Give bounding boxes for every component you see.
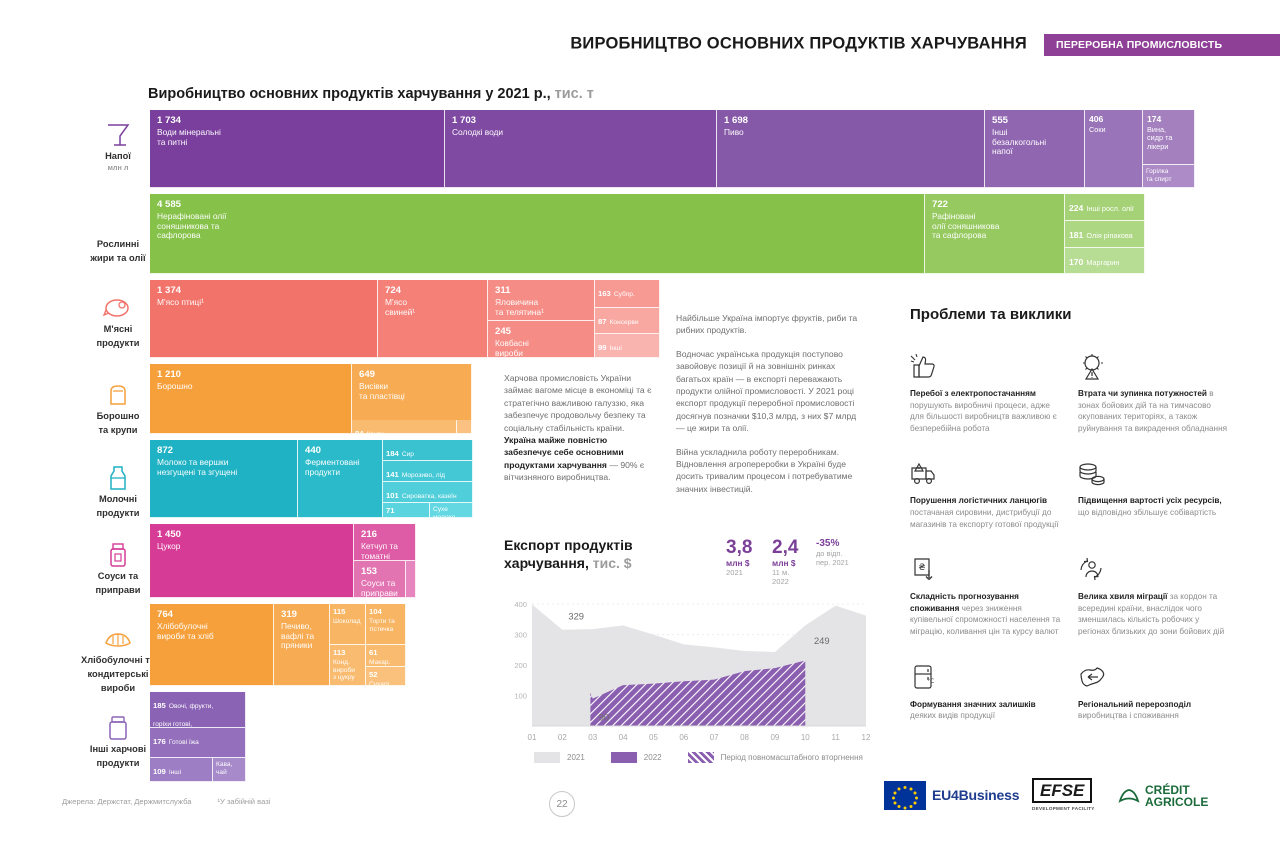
problem-text: Підвищення вартості усіх ресурсів, що ві…: [1078, 495, 1230, 518]
treemap-cell-value: 115: [333, 607, 363, 616]
treemap-cell-value: 181: [1069, 230, 1083, 240]
category-label-2: продукти: [97, 758, 140, 769]
eu4business-logo: EU4Business: [884, 781, 994, 816]
treemap-cell-oils-1[interactable]: 4 585Нерафіновані оліїсоняшникова тасафл…: [150, 194, 925, 274]
page-number: 22: [549, 791, 575, 817]
croissant-icon: [103, 626, 133, 652]
kpi-change: -35% до відп. пер. 2021: [816, 538, 849, 567]
efse-logo: EFSE DEVELOPMENT FACILITY: [1032, 778, 1095, 811]
category-6: Соуси таприправи: [88, 542, 148, 596]
treemap-cell-sauces-3[interactable]: 153Соуси таприправи: [354, 561, 406, 598]
treemap-cell-oils-5[interactable]: 170Маргарин: [1065, 248, 1145, 274]
treemap-title-main: Виробництво основних продуктів харчуванн…: [148, 86, 555, 102]
treemap-cell-name: Борошно: [157, 382, 345, 392]
treemap-cell-name: Вина,сидр талікери: [1147, 126, 1191, 151]
x-tick-06: 06: [679, 733, 688, 742]
problem-text-rest: виробництва і споживання: [1078, 711, 1179, 720]
fridge-icon: °C: [910, 664, 1062, 692]
x-tick-04: 04: [619, 733, 628, 742]
x-tick-03: 03: [588, 733, 597, 742]
treemap-cell-flour-1[interactable]: 1 210Борошно: [150, 364, 352, 434]
treemap-cell-drinks-5[interactable]: 406Соки: [1085, 110, 1143, 188]
svg-text:₴: ₴: [919, 563, 926, 573]
treemap-cell-name: Цукор: [157, 542, 347, 552]
treemap-cell-dairy-3[interactable]: 184Сир: [383, 440, 473, 461]
treemap-cell-name: Ферментованіпродукти: [305, 458, 376, 477]
treemap-cell-value: 113: [333, 648, 363, 657]
category-label-2: кондитерські: [88, 669, 149, 680]
treemap-cell-value: 319: [281, 609, 323, 620]
category-label: Соуси та: [98, 571, 138, 582]
treemap-cell-value: 170: [1069, 257, 1083, 267]
x-tick-08: 08: [740, 733, 749, 742]
export-chart-title-units: тис. $: [593, 555, 632, 571]
problem-text-bold: Підвищення вартості усіх ресурсів,: [1078, 496, 1222, 505]
treemap-cell-dairy-1[interactable]: 872Молоко та вершкинезгущені та згущені: [150, 440, 298, 518]
treemap-cell-value: 224: [1069, 203, 1083, 213]
export-chart-title: Експорт продуктів харчування, тис. $: [504, 536, 674, 572]
treemap-cell-name: Сир: [402, 451, 414, 458]
import-export-p1: Найбільше Україна імпортує фруктів, риби…: [676, 312, 862, 337]
person-migration-icon: [1078, 556, 1230, 584]
treemap-cell-name: Морозиво, лід: [402, 472, 445, 479]
treemap-cell-meat-4[interactable]: 245Ковбаснівироби: [488, 321, 595, 358]
treemap-cell-dairy-7[interactable]: Сухемолоко: [430, 503, 473, 518]
treemap-cell-name: Солодкі води: [452, 128, 710, 138]
treemap-cell-name: Соки: [1089, 126, 1139, 134]
x-tick-01: 01: [528, 733, 537, 742]
legend-swatch: [534, 752, 560, 763]
treemap-cell-name: Хлібобулочнівироби та хліб: [157, 622, 267, 641]
treemap-cell-meat-2[interactable]: 724М'ясосвиней¹: [378, 280, 488, 358]
problem-text: Втрата чи зупинка потужностей в зонах бо…: [1078, 388, 1230, 434]
treemap-cell-flour-3[interactable]: 84Крупи: [352, 420, 457, 434]
treemap-cell-name: Рафінованіолії соняшниковата сафлорова: [932, 212, 1058, 241]
category-label: Рослинні: [97, 239, 139, 250]
treemap-cell-value: 141: [386, 470, 399, 479]
category-7: Хлібобулочні такондитерськівироби: [88, 626, 148, 694]
treemap-cell-name: Молоко та вершкинезгущені та згущені: [157, 458, 291, 477]
category-label-3: вироби: [101, 683, 135, 694]
problem-text-bold: Формування значних залишків: [910, 700, 1036, 709]
treemap-cell-value: 872: [157, 445, 291, 456]
category-label-2: продукти: [97, 338, 140, 349]
milk-bottle-icon: [103, 465, 133, 491]
problem-text: Порушення логістичних ланцюгів постачана…: [910, 495, 1062, 530]
treemap-cell-value: 1 734: [157, 115, 438, 126]
treemap-cell-other-food-2[interactable]: 176Готові їжата страви: [150, 728, 246, 758]
treemap-cell-name: Інші: [610, 345, 622, 352]
industry-text-a: Харчова промисловість України займає ваг…: [504, 373, 651, 433]
export-chart: Експорт продуктів харчування, тис. $ 3,8…: [504, 536, 874, 766]
treemap-cell-name: Кава,чай: [216, 761, 243, 776]
legend-label: Період повномасштабного вторгнення: [721, 753, 863, 762]
category-label-2: приправи: [96, 585, 141, 596]
treemap-cell-value: 52: [369, 670, 403, 679]
y-tick-100: 100: [514, 692, 527, 701]
treemap-cell-value: 311: [495, 285, 588, 296]
problem-text-rest: постачаная сировини, дистрибуції до мага…: [910, 508, 1058, 529]
x-tick-02: 02: [558, 733, 567, 742]
efse-text: EFSE: [1040, 781, 1084, 800]
sauce-jar-icon: [103, 542, 133, 568]
legend-label: 2021: [567, 753, 585, 762]
category-rail: Напоїмлн лРослинніжири та оліїМ'ясніпрод…: [88, 110, 148, 770]
problems-grid: Перебої з електропостачанням порушують в…: [910, 353, 1230, 722]
x-tick-09: 09: [770, 733, 779, 742]
problem-text: Складність прогнозування споживання чере…: [910, 591, 1062, 637]
treemap-cell-sauces-2[interactable]: 216Кетчуп татоматні пасти: [354, 524, 416, 561]
treemap-cell-bakery-4[interactable]: 104Торти татістечка: [366, 604, 406, 645]
treemap-cell-name: Інші росл. олії: [1086, 204, 1133, 213]
category-1: Напоїмлн л: [88, 122, 148, 172]
treemap-cell-name: Конд.виробиз цукру: [333, 659, 363, 682]
category-label: Борошно: [97, 411, 140, 422]
treemap-cell-name: Макар.: [369, 659, 403, 667]
treemap-cell-name: Маргарин: [1086, 258, 1119, 267]
treemap-cell-other-food-3[interactable]: 109Інші: [150, 758, 213, 782]
damaged-factory-icon: [1078, 353, 1230, 381]
treemap-cell-value: 649: [359, 369, 465, 380]
treemap-cell-name: Горілката спирт: [1146, 168, 1192, 183]
kpi-2022: 2,4 млн $ 11 м. 2022: [772, 538, 798, 586]
section-badge: ПЕРЕРОБНА ПРОМИСЛОВІСТЬ: [1044, 34, 1280, 56]
treemap-cell-value: 555: [992, 115, 1078, 126]
kpi-2021: 3,8 млн $ 2021: [726, 538, 752, 577]
treemap-cell-name: Сухарі: [369, 681, 403, 686]
eu4business-text: EU4Business: [932, 787, 1019, 803]
treemap-cell-name: М'ясо птиці¹: [157, 298, 371, 308]
problem-text-bold: Перебої з електропостачанням: [910, 389, 1036, 398]
treemap-cell-name: Води мінеральніта питні: [157, 128, 438, 147]
treemap-cell-bakery-6[interactable]: 61Макар.: [366, 645, 406, 667]
glass-icon: [103, 122, 133, 148]
x-tick-05: 05: [649, 733, 658, 742]
svg-text:°C: °C: [927, 678, 934, 685]
category-5: Молочніпродукти: [88, 465, 148, 519]
treemap-cell-value: 174: [1147, 114, 1191, 124]
treemap-cell-drinks-6[interactable]: 174Вина,сидр талікери: [1143, 110, 1195, 165]
x-tick-12: 12: [862, 733, 871, 742]
category-8: Інші харчовіпродукти: [88, 715, 148, 769]
treemap-cell-oils-4[interactable]: 181Олія ріпакова: [1065, 221, 1145, 248]
treemap-cell-name: М'ясосвиней¹: [385, 298, 481, 317]
treemap-cell-flour-4[interactable]: [457, 420, 472, 434]
problems-panel: Проблеми та виклики Перебої з електропос…: [910, 306, 1230, 722]
treemap-cell-value: 109: [153, 767, 166, 776]
treemap-cell-oils-3[interactable]: 224Інші росл. олії: [1065, 194, 1145, 221]
treemap-cell-value: 176: [153, 737, 166, 746]
treemap-cell-dairy-5[interactable]: 101Сироватка, казеїн: [383, 482, 473, 503]
treemap-cell-dairy-2[interactable]: 440Ферментованіпродукти: [298, 440, 383, 518]
treemap-cell-value: 71: [386, 506, 427, 515]
treemap-cell-name: Сироватка, казеїн: [402, 493, 457, 500]
treemap-cell-value: 163: [598, 289, 611, 298]
treemap-cell-value: 1 210: [157, 369, 345, 380]
treemap-cell-name: Соуси таприправи: [361, 579, 399, 598]
treemap-cell-name: Висівкита пластівці: [359, 382, 465, 401]
problem-item-2: Втрата чи зупинка потужностей в зонах бо…: [1078, 353, 1230, 434]
import-export-paragraphs: Найбільше Україна імпортує фруктів, риби…: [676, 312, 862, 495]
treemap-cell-name: Торти татістечка: [369, 618, 403, 633]
treemap-cell-bakery-3[interactable]: 115Шоколад: [330, 604, 366, 645]
legend-item-3[interactable]: Період повномасштабного вторгнення: [688, 752, 863, 763]
problem-text-rest: деяких видів продукції: [910, 711, 995, 720]
problem-item-7: °CФормування значних залишків деяких вид…: [910, 664, 1062, 722]
y-tick-400: 400: [514, 600, 527, 609]
coins-icon: [1078, 460, 1230, 488]
treemap-cell-bakery-7[interactable]: 52Сухарі: [366, 667, 406, 686]
problem-text: Велика хвиля міграції за кордон та всере…: [1078, 591, 1230, 637]
problem-item-5: ₴Складність прогнозування споживання чер…: [910, 556, 1062, 637]
treemap-cell-value: 84: [355, 429, 364, 434]
kpi-2022-value: 2,4: [772, 538, 798, 558]
kpi-2021-period: 2021: [726, 568, 752, 577]
x-tick-07: 07: [710, 733, 719, 742]
treemap-cell-meat-5[interactable]: 163Субпр.м'ясні: [595, 280, 660, 308]
treemap-cell-name: Ковбаснівироби: [495, 339, 588, 358]
credit-agricole-mark-icon: [1118, 786, 1140, 808]
kpi-2021-value: 3,8: [726, 538, 752, 558]
problem-item-6: Велика хвиля міграції за кордон та всере…: [1078, 556, 1230, 637]
treemap-cell-value: 101: [386, 491, 399, 500]
problem-text: Регіональний перерозподіл виробництва і …: [1078, 699, 1230, 722]
sources-text: Джерела: Держстат, Держмитслужба: [62, 797, 191, 806]
credit-agricole-line2: AGRICOLE: [1145, 796, 1208, 808]
y-tick-300: 300: [514, 631, 527, 640]
category-label: Хлібобулочні та: [81, 655, 155, 666]
legend-swatch: [688, 752, 714, 763]
treemap-cell-value: 764: [157, 609, 267, 620]
treemap-cell-dairy-4[interactable]: 141Морозиво, лід: [383, 461, 473, 482]
treemap-cell-value: 1 374: [157, 285, 371, 296]
treemap-cell-drinks-4[interactable]: 555Іншібезалкогольнінапої: [985, 110, 1085, 188]
treemap-cell-drinks-1[interactable]: 1 734Води мінеральніта питні: [150, 110, 445, 188]
treemap-cell-value: 87: [598, 317, 607, 326]
treemap-cell-drinks-3[interactable]: 1 698Пиво: [717, 110, 985, 188]
legend-swatch: [611, 752, 637, 763]
treemap-cell-meat-7[interactable]: 99Інші: [595, 334, 660, 358]
problem-item-8: Регіональний перерозподіл виробництва і …: [1078, 664, 1230, 722]
category-sublabel: млн л: [108, 163, 129, 172]
category-2: Рослинніжири та олії: [88, 210, 148, 264]
problem-text-bold: Втрата чи зупинка потужностей: [1078, 389, 1207, 398]
treemap-cell-name: Іншібезалкогольнінапої: [992, 128, 1078, 157]
treemap-cell-name: Масловершк.: [386, 517, 427, 518]
treemap-cell-drinks-2[interactable]: 1 703Солодкі води: [445, 110, 717, 188]
data-label-329: 329: [568, 611, 584, 622]
category-3: М'ясніпродукти: [88, 295, 148, 349]
legend-item-1[interactable]: 2021: [534, 752, 585, 763]
treemap-cell-meat-6[interactable]: 87Консервим'ясні: [595, 308, 660, 334]
treemap-cell-oils-2[interactable]: 722Рафінованіолії соняшниковата сафлоров…: [925, 194, 1065, 274]
x-tick-11: 11: [831, 733, 840, 742]
treemap-cell-name: Печиво,вафлі тапряники: [281, 622, 323, 651]
treemap-cell-name: Сухемолоко: [433, 506, 470, 518]
ham-icon: [103, 295, 133, 321]
treemap-cell-value: 1 450: [157, 529, 347, 540]
treemap-cell-name: Пиво: [724, 128, 978, 138]
legend-label: 2022: [644, 753, 662, 762]
money-down-icon: ₴: [910, 556, 1062, 584]
treemap-cell-meat-3[interactable]: 311Яловичината телятина¹: [488, 280, 595, 321]
treemap-cell-other-food-4[interactable]: Кава,чай: [213, 758, 246, 782]
sources-line: Джерела: Держстат, Держмитслужба¹У забій…: [62, 797, 270, 806]
treemap-cell-other-food-1[interactable]: 185Овочі, фрукти,горіхи готові,конс., мо…: [150, 692, 246, 728]
kpi-2021-currency: млн $: [726, 558, 752, 568]
category-label: Молочні: [99, 494, 137, 505]
treemap-cell-bakery-1[interactable]: 764Хлібобулочнівироби та хліб: [150, 604, 274, 686]
treemap-cell-value: 61: [369, 648, 403, 657]
thumbs-up-broken-icon: [910, 353, 1062, 381]
treemap-cell-dairy-6[interactable]: 71Масловершк.: [383, 503, 430, 518]
treemap-cell-value: 216: [361, 529, 409, 540]
treemap-cell-bakery-5[interactable]: 113Конд.виробиз цукру: [330, 645, 366, 686]
page-title: ВИРОБНИЦТВО ОСНОВНИХ ПРОДУКТІВ ХАРЧУВАНН…: [570, 35, 1027, 54]
treemap-cell-sauces-4[interactable]: [406, 561, 416, 598]
treemap-title: Виробництво основних продуктів харчуванн…: [148, 86, 594, 102]
treemap-cell-value: 406: [1089, 114, 1139, 124]
kpi-2022-currency: млн $: [772, 558, 798, 568]
x-tick-10: 10: [801, 733, 810, 742]
treemap-cell-name: Нерафіновані оліїсоняшникова тасафлорова: [157, 212, 918, 241]
category-label-2: продукти: [97, 508, 140, 519]
problem-item-3: Порушення логістичних ланцюгів постачана…: [910, 460, 1062, 530]
import-export-p3: Війна ускладнила роботу переробникам. Ві…: [676, 446, 862, 496]
problem-text: Перебої з електропостачанням порушують в…: [910, 388, 1062, 434]
treemap-cell-value: 1 698: [724, 115, 978, 126]
treemap-cell-name: Шоколад: [333, 618, 363, 626]
treemap-cell-value: 104: [369, 607, 403, 616]
treemap-cell-drinks-7[interactable]: Горілката спирт: [1143, 165, 1195, 188]
category-label: М'ясні: [104, 324, 133, 335]
category-4: Борошнота крупи: [88, 382, 148, 436]
problems-title: Проблеми та виклики: [910, 306, 1230, 323]
page-header: ВИРОБНИЦТВО ОСНОВНИХ ПРОДУКТІВ ХАРЧУВАНН…: [0, 0, 1280, 78]
export-chart-legend: 20212022Період повномасштабного вторгнен…: [534, 752, 863, 763]
treemap-cell-value: 722: [932, 199, 1058, 210]
treemap-cell-value: 153: [361, 566, 399, 577]
data-label-90: 90: [599, 712, 609, 723]
oil-drop-icon: [103, 210, 133, 236]
industry-paragraph: Харчова промисловість України займає ваг…: [504, 372, 654, 484]
truck-warning-icon: [910, 460, 1062, 488]
treemap-cell-value: 440: [305, 445, 376, 456]
treemap-cell-bakery-2[interactable]: 319Печиво,вафлі тапряники: [274, 604, 330, 686]
category-label: Напої: [105, 151, 131, 162]
problem-text-bold: Регіональний перерозподіл: [1078, 700, 1191, 709]
data-label-249: 249: [814, 635, 830, 646]
legend-item-2[interactable]: 2022: [611, 752, 662, 763]
jar-icon: [103, 715, 133, 741]
problem-text-bold: Велика хвиля міграції: [1078, 592, 1167, 601]
import-export-p2: Водночас українська продукція поступово …: [676, 348, 862, 435]
treemap-cell-value: 185: [153, 701, 166, 710]
footnote-text: ¹У забійній вазі: [217, 797, 270, 806]
y-tick-200: 200: [514, 661, 527, 670]
treemap-cell-name: Яловичината телятина¹: [495, 298, 588, 317]
category-label-2: та крупи: [98, 425, 137, 436]
category-label-2: жири та олії: [90, 253, 145, 264]
industry-text-bold: Україна майже повністю забезпечує себе о…: [504, 435, 624, 470]
kpi-2022-period: 11 м. 2022: [772, 568, 798, 586]
treemap-cell-name: Інші: [169, 769, 181, 776]
treemap-cell-name: Крупи: [367, 431, 385, 434]
problem-item-4: Підвищення вартості усіх ресурсів, що ві…: [1078, 460, 1230, 530]
problem-text-rest: що відповідно збільшує собівартість: [1078, 508, 1216, 517]
efse-subtext: DEVELOPMENT FACILITY: [1032, 806, 1095, 811]
category-label: Інші харчові: [90, 744, 146, 755]
treemap-cell-name: Кетчуп татоматні пасти: [361, 542, 409, 561]
problem-text: Формування значних залишків деяких видів…: [910, 699, 1062, 722]
ukraine-map-icon: [1078, 664, 1230, 692]
problem-text-rest: порушують виробничі процеси, адже для бі…: [910, 401, 1057, 433]
problem-item-1: Перебої з електропостачанням порушують в…: [910, 353, 1062, 434]
treemap-cell-name: Олія ріпакова: [1086, 231, 1132, 240]
treemap-cell-value: 99: [598, 343, 607, 352]
flour-bag-icon: [103, 382, 133, 408]
treemap-cell-value: 245: [495, 326, 588, 337]
treemap-cell-value: 724: [385, 285, 481, 296]
kpi-change-period: до відп. пер. 2021: [816, 550, 849, 567]
treemap-cell-sauces-1[interactable]: 1 450Цукор: [150, 524, 354, 598]
treemap-cell-meat-1[interactable]: 1 374М'ясо птиці¹: [150, 280, 378, 358]
treemap-cell-value: 184: [386, 449, 399, 458]
problem-text-bold: Порушення логістичних ланцюгів: [910, 496, 1047, 505]
treemap-cell-value: 4 585: [157, 199, 918, 210]
treemap-title-units: тис. т: [555, 86, 594, 102]
treemap-cell-value: 1 703: [452, 115, 710, 126]
